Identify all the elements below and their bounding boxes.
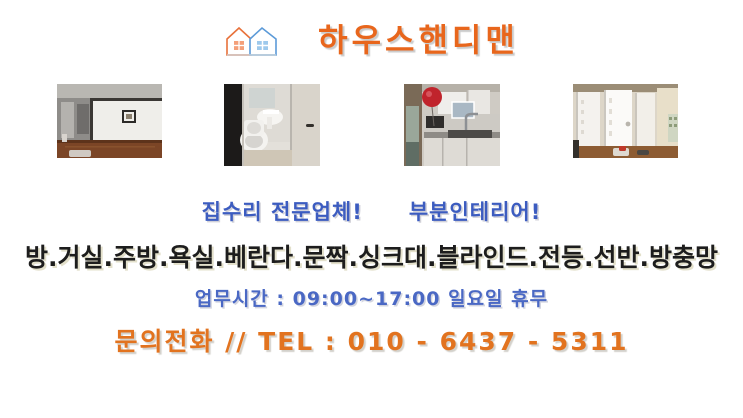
advertisement-page: 하우스핸디맨 [0,0,743,418]
photo-entry-doors [573,84,678,158]
photo-bathroom [224,84,320,166]
slogan-line: 집수리 전문업체!부분인테리어! [0,196,743,226]
header: 하우스핸디맨 [0,14,743,66]
double-house-logo-icon [224,21,280,59]
slogan-right-text: 부분인테리어! [409,200,542,224]
slogan-left-text: 집수리 전문업체! [202,200,363,224]
phone-number-line: 문의전화 // TEL : 010 - 6437 - 5311 [0,322,743,358]
page-title: 하우스핸디맨 [318,24,519,56]
services-list-line: 방.거실.주방.욕실.베란다.문짝.싱크대.블라인드.전등.선반.방충망 [0,238,743,274]
photo-kitchen [404,84,500,166]
photo-strip [0,84,743,174]
business-hours-line: 업무시간 : 09:00~17:00 일요일 휴무 [0,284,743,311]
photo-living-room [57,84,162,158]
